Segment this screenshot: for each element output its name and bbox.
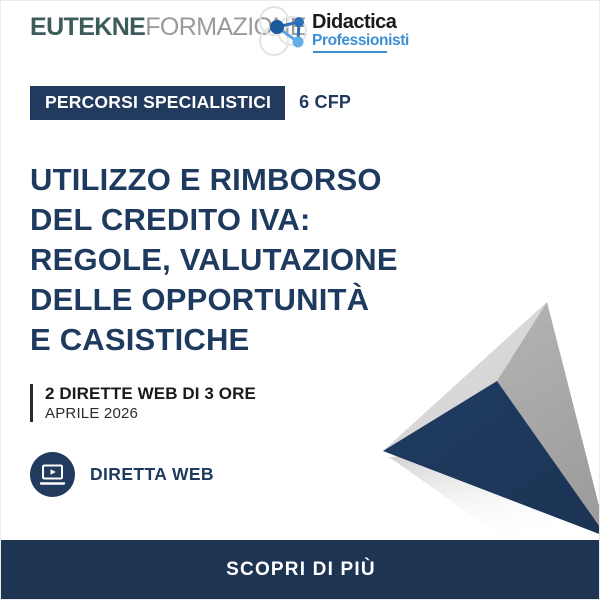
title-line: REGOLE, VALUTAZIONE <box>30 240 460 280</box>
delivery-mode-label: DIRETTA WEB <box>90 464 214 485</box>
network-nodes-icon <box>268 17 310 51</box>
card-header: EUTEKNEFORMAZIONE Didactica Professionis… <box>1 1 600 63</box>
delivery-mode-row: DIRETTA WEB <box>30 452 214 497</box>
schedule-period: APRILE 2026 <box>45 404 256 423</box>
credits-badge: 6 CFP <box>299 92 351 113</box>
didactica-professionisti-logo: Didactica Professionisti <box>252 5 387 57</box>
discover-more-label: SCOPRI DI PIÙ <box>226 559 376 581</box>
laptop-play-icon <box>30 452 75 497</box>
category-badge: PERCORSI SPECIALISTICI <box>30 86 285 120</box>
badge-row: PERCORSI SPECIALISTICI 6 CFP <box>30 86 351 120</box>
laptop-play-glyph <box>39 463 66 486</box>
title-line: UTILIZZO E RIMBORSO <box>30 160 460 200</box>
discover-more-button[interactable]: SCOPRI DI PIÙ <box>1 540 600 599</box>
partner-underline <box>313 51 387 53</box>
logo-text-eutekne: EUTEKNE <box>30 13 145 41</box>
schedule-sessions: 2 DIRETTE WEB DI 3 ORE <box>45 384 256 404</box>
title-line: DEL CREDITO IVA: <box>30 200 460 240</box>
page-title: UTILIZZO E RIMBORSO DEL CREDITO IVA: REG… <box>30 160 460 360</box>
didactica-wordmark: Didactica Professionisti <box>312 12 409 49</box>
schedule-block: 2 DIRETTE WEB DI 3 ORE APRILE 2026 <box>30 384 256 423</box>
partner-subtitle: Professionisti <box>312 33 409 49</box>
promo-card: EUTEKNEFORMAZIONE Didactica Professionis… <box>0 0 600 600</box>
title-line: DELLE OPPORTUNITÀ <box>30 280 460 320</box>
title-line: E CASISTICHE <box>30 320 460 360</box>
partner-name: Didactica <box>312 12 409 32</box>
